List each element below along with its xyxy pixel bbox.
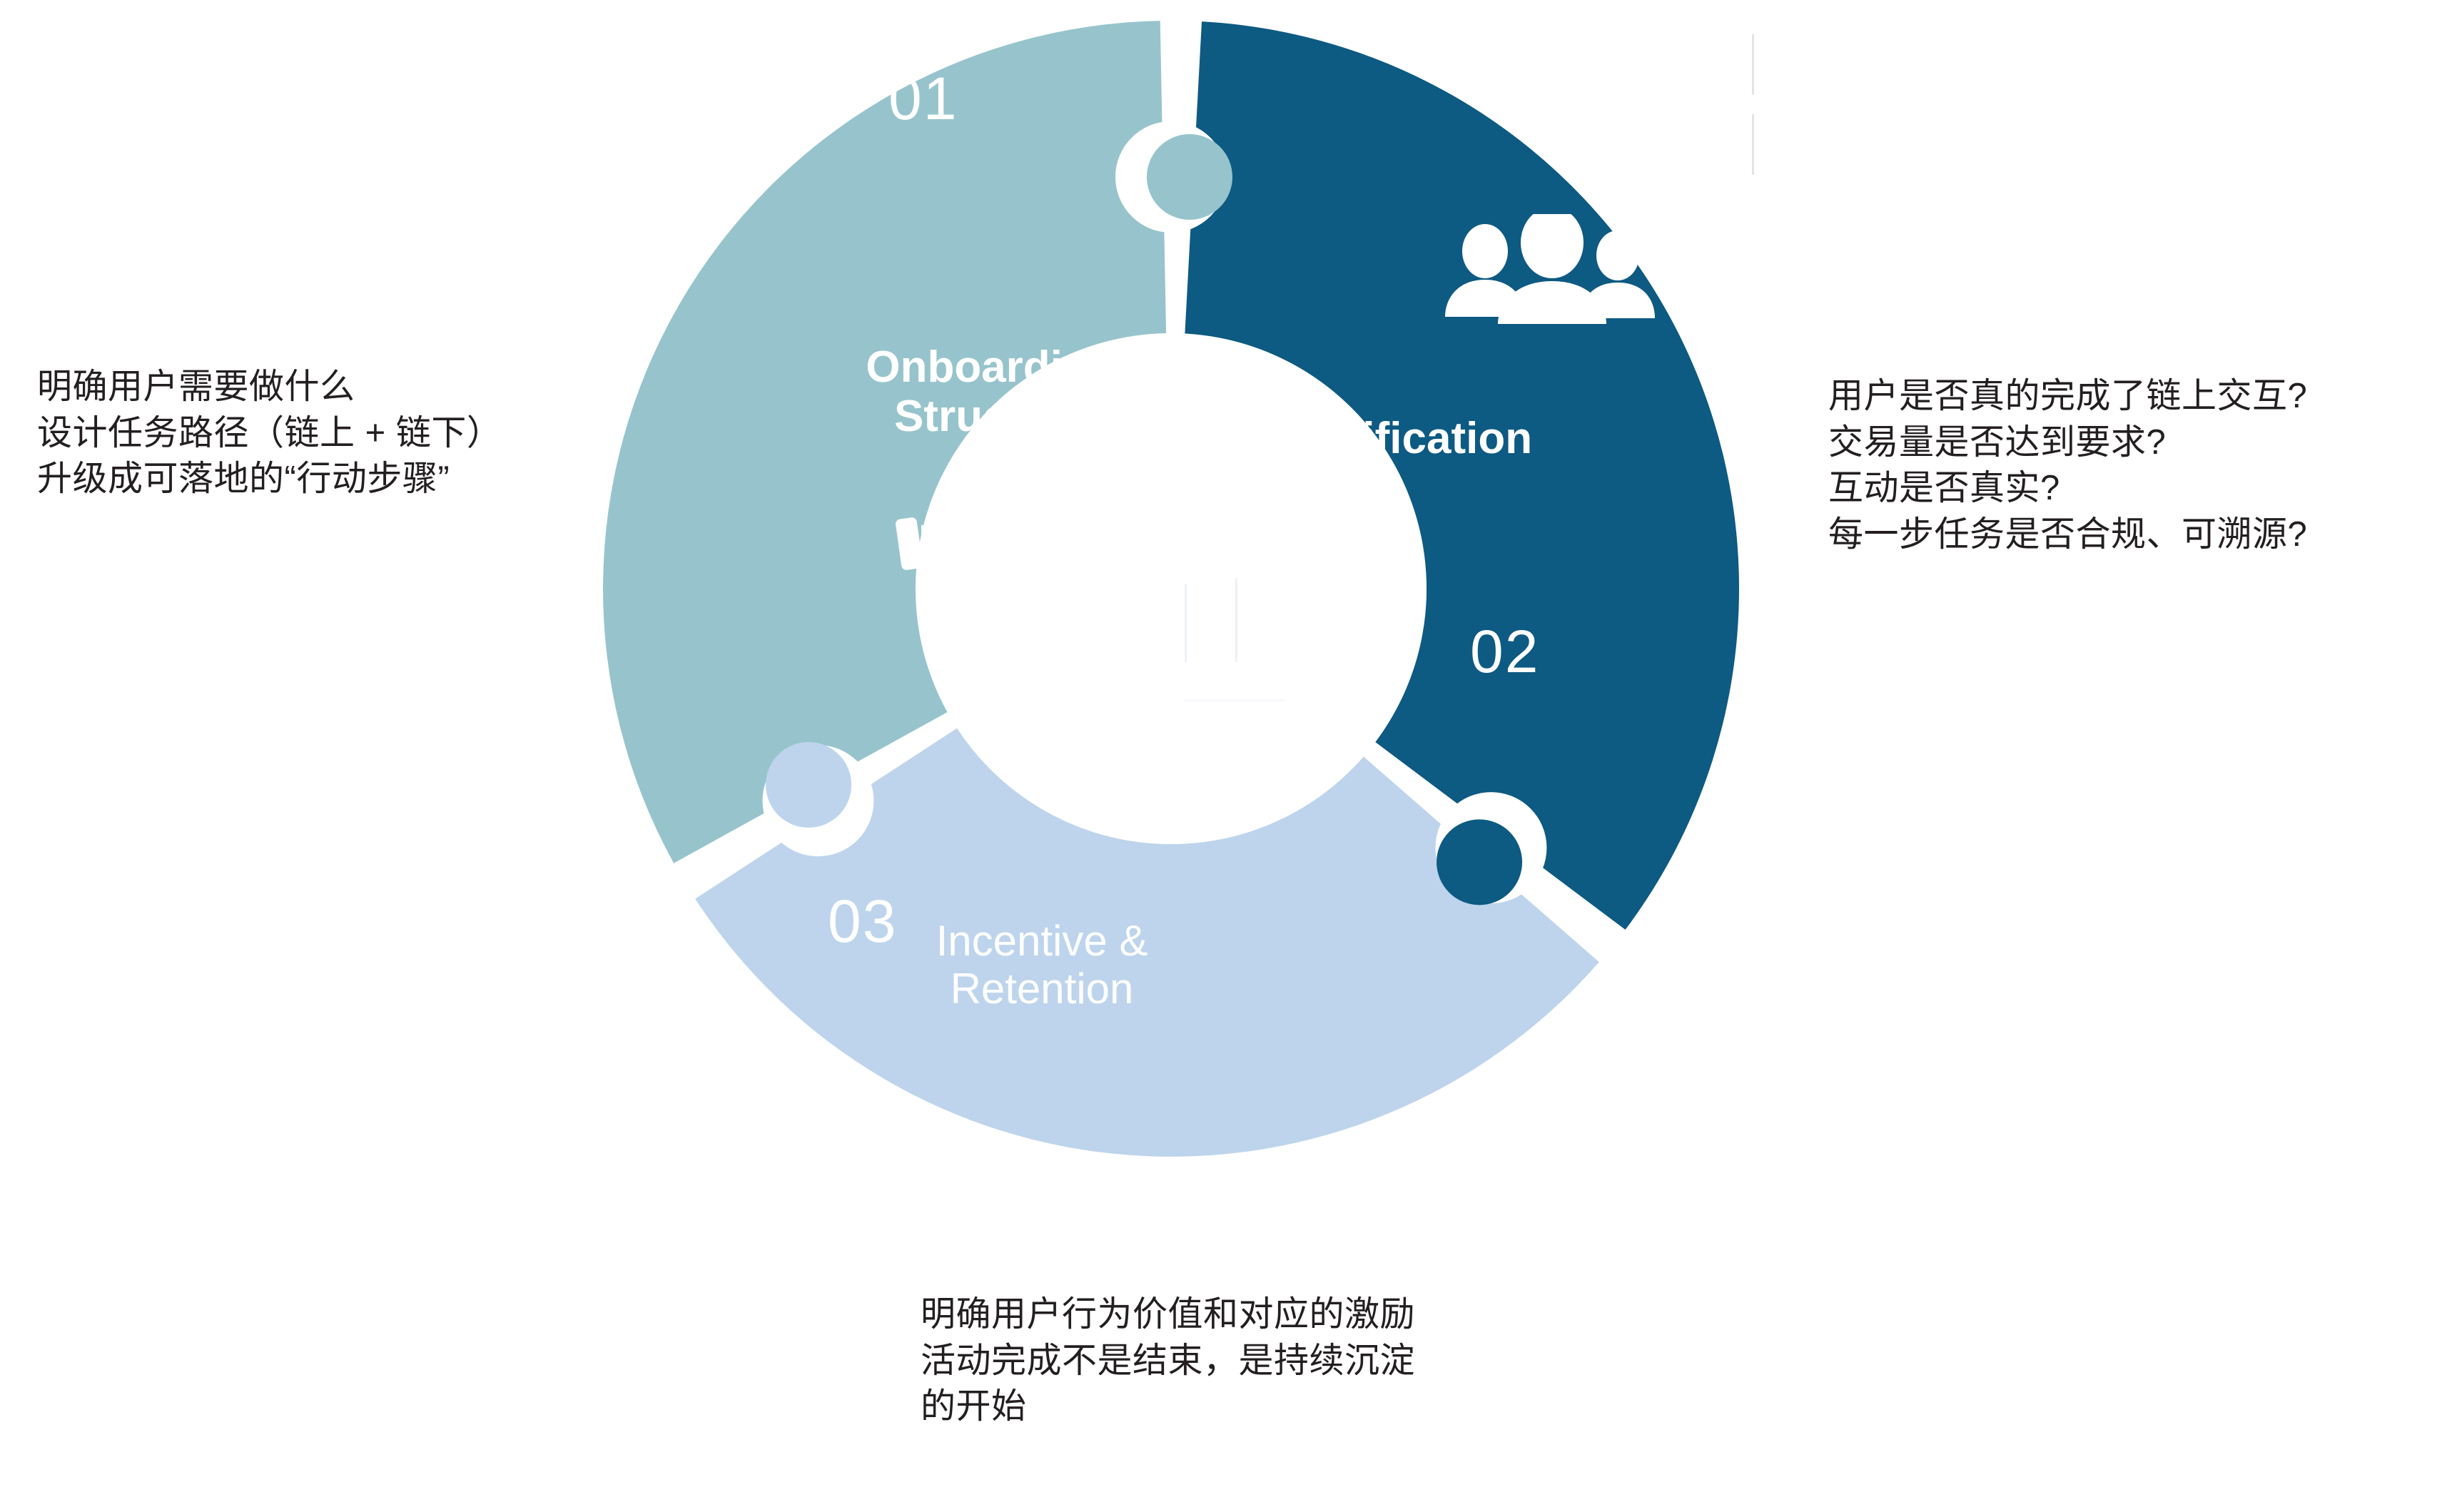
callout-right-text: 用户是否真的完成了链上交互? 交易量是否达到要求? 互动是否真实? 每一步任务是… — [1828, 373, 2399, 558]
joint-tab — [1437, 819, 1522, 905]
puzzle-ring-svg — [585, 0, 1770, 1184]
watermark-streak — [1235, 578, 1237, 662]
joint-tab — [1147, 134, 1232, 220]
hairline-mark — [1752, 114, 1754, 175]
puzzle-cycle-diagram — [585, 0, 1770, 1184]
callout-bottom-text: 明确用户行为价值和对应的激励 活动完成不是结束，是持续沉淀 的开始 — [921, 1292, 1491, 1430]
joint-tab — [766, 742, 851, 828]
watermark-streak — [1185, 584, 1187, 662]
watermark-streak — [1185, 699, 1285, 701]
hairline-mark — [1752, 34, 1754, 95]
callout-left-text: 明确用户需要做什么 设计任务路径（链上 + 链下） 升级成可落地的“行动步骤” — [37, 364, 565, 502]
diagram-canvas: 01 Onboarding & Structuring 02 Verificat… — [0, 0, 2447, 1512]
center-hole — [916, 333, 1427, 844]
